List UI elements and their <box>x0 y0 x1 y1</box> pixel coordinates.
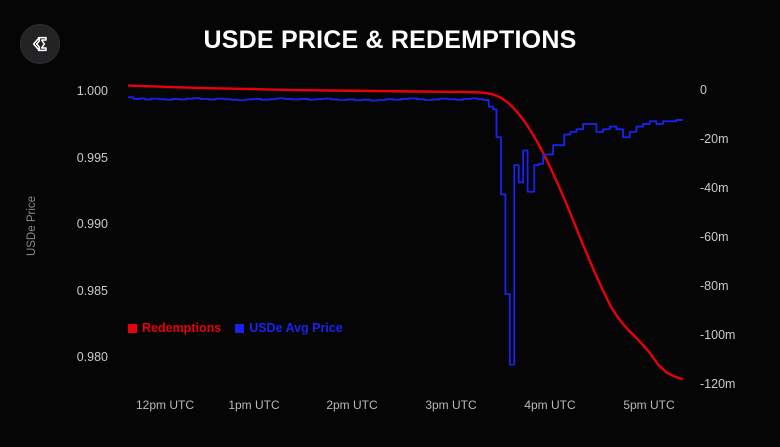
y-axis-right-tick-label: -40m <box>700 181 770 195</box>
y-axis-left-tick-label: 1.000 <box>48 84 108 98</box>
y-axis-right-tick-label: -60m <box>700 230 770 244</box>
chart-canvas: USDE PRICE & REDEMPTIONS USDe Price Cumu… <box>0 0 780 447</box>
y-axis-left-tick-label: 0.985 <box>48 284 108 298</box>
plot-area <box>0 0 780 447</box>
chart-legend: RedemptionsUSDe Avg Price <box>128 321 343 335</box>
y-axis-right-tick-label: -20m <box>700 132 770 146</box>
legend-swatch-icon <box>128 324 137 333</box>
x-axis-tick-label: 5pm UTC <box>599 398 699 412</box>
legend-item-label: USDe Avg Price <box>249 321 343 335</box>
y-axis-right-tick-label: 0 <box>700 83 770 97</box>
x-axis-tick-label: 12pm UTC <box>115 398 215 412</box>
legend-item-label: Redemptions <box>142 321 221 335</box>
series-line-redemptions <box>128 86 683 380</box>
x-axis-tick-label: 2pm UTC <box>302 398 402 412</box>
y-axis-left-tick-label: 0.990 <box>48 217 108 231</box>
x-axis-tick-label: 4pm UTC <box>500 398 600 412</box>
legend-swatch-icon <box>235 324 244 333</box>
x-axis-tick-label: 3pm UTC <box>401 398 501 412</box>
y-axis-left-tick-label: 0.980 <box>48 350 108 364</box>
y-axis-right-tick-label: -100m <box>700 328 770 342</box>
y-axis-right-tick-label: -120m <box>700 377 770 391</box>
y-axis-right-tick-label: -80m <box>700 279 770 293</box>
legend-item-redemptions[interactable]: Redemptions <box>128 321 221 335</box>
legend-item-usde-avg-price[interactable]: USDe Avg Price <box>235 321 343 335</box>
x-axis-tick-label: 1pm UTC <box>204 398 304 412</box>
y-axis-left-tick-label: 0.995 <box>48 151 108 165</box>
